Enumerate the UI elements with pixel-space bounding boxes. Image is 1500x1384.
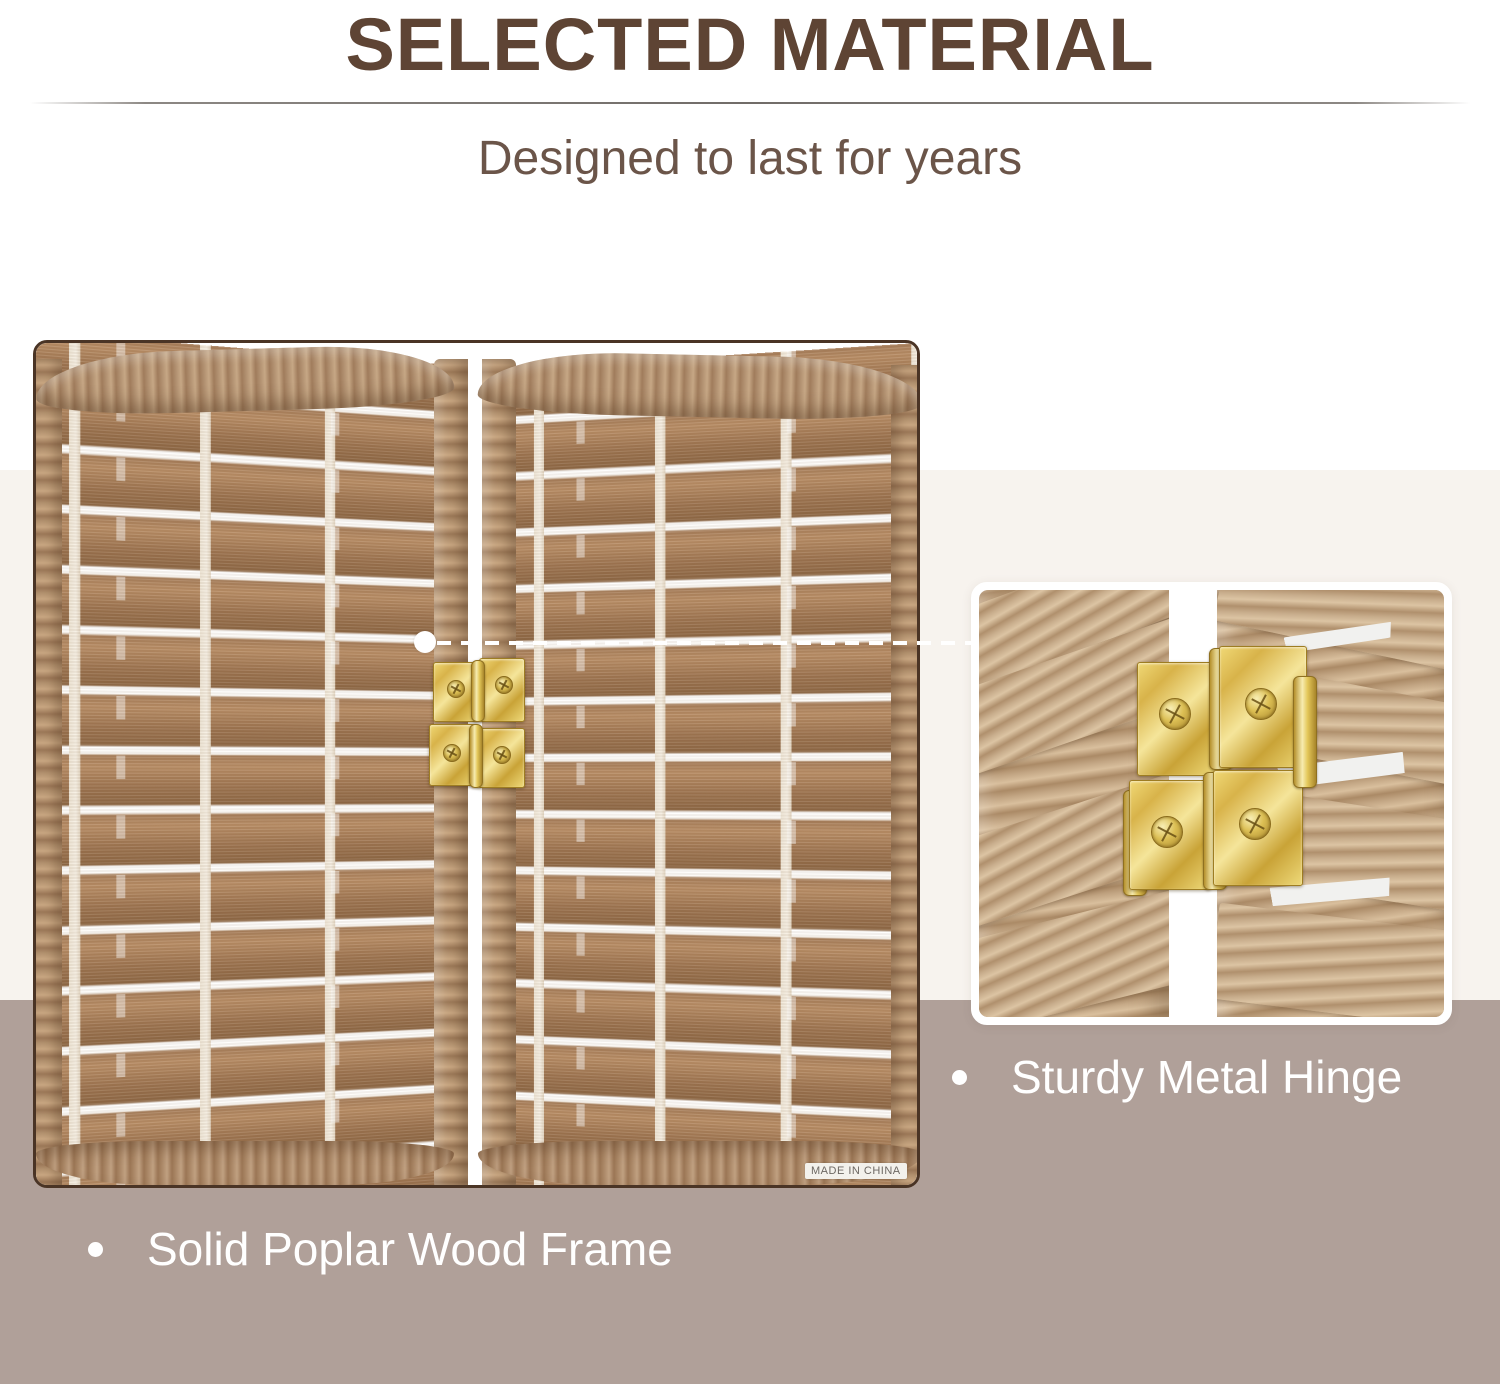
hinge-screw <box>443 744 461 762</box>
left-panel-weave <box>36 343 450 1185</box>
callout-connector-line <box>437 641 977 645</box>
bullet-dot-icon <box>952 1070 967 1085</box>
hinge-screw <box>1239 808 1271 840</box>
hinge-knuckle <box>469 724 483 788</box>
main-photo-hinge-icon <box>427 658 527 788</box>
made-in-label: MADE IN CHINA <box>805 1163 907 1179</box>
closeup-hinge-icon <box>1127 640 1317 890</box>
hinge-screw <box>1151 816 1183 848</box>
woven-panels-illustration <box>36 343 917 1185</box>
hinge-screw <box>493 746 511 764</box>
caption-solid-poplar-wood-frame: Solid Poplar Wood Frame <box>88 1222 673 1276</box>
hinge-closeup-photo <box>979 590 1444 1017</box>
page-title: SELECTED MATERIAL <box>0 2 1500 88</box>
hinge-screw <box>447 680 465 698</box>
hinge-knuckle <box>471 660 485 722</box>
page-subtitle: Designed to last for years <box>0 128 1500 190</box>
hinge-screw <box>495 676 513 694</box>
hinge-screw <box>1159 698 1191 730</box>
left-panel-bottom-rail <box>36 1141 454 1185</box>
hinge-knuckle <box>1293 676 1317 788</box>
caption-label: Sturdy Metal Hinge <box>1011 1050 1402 1104</box>
right-panel-weave <box>480 343 917 1185</box>
right-panel-outer-stile <box>891 365 917 1185</box>
left-panel-outer-stile <box>36 359 62 1185</box>
marketing-banner: SELECTED MATERIAL Designed to last for y… <box>0 0 1500 1384</box>
header-divider <box>30 102 1470 104</box>
caption-sturdy-metal-hinge: Sturdy Metal Hinge <box>952 1050 1402 1104</box>
bullet-dot-icon <box>88 1242 103 1257</box>
hinge-screw <box>1245 688 1277 720</box>
callout-anchor-dot <box>414 631 436 653</box>
caption-label: Solid Poplar Wood Frame <box>147 1222 673 1276</box>
hinge-closeup-callout <box>971 582 1452 1025</box>
main-product-photo <box>33 340 920 1188</box>
